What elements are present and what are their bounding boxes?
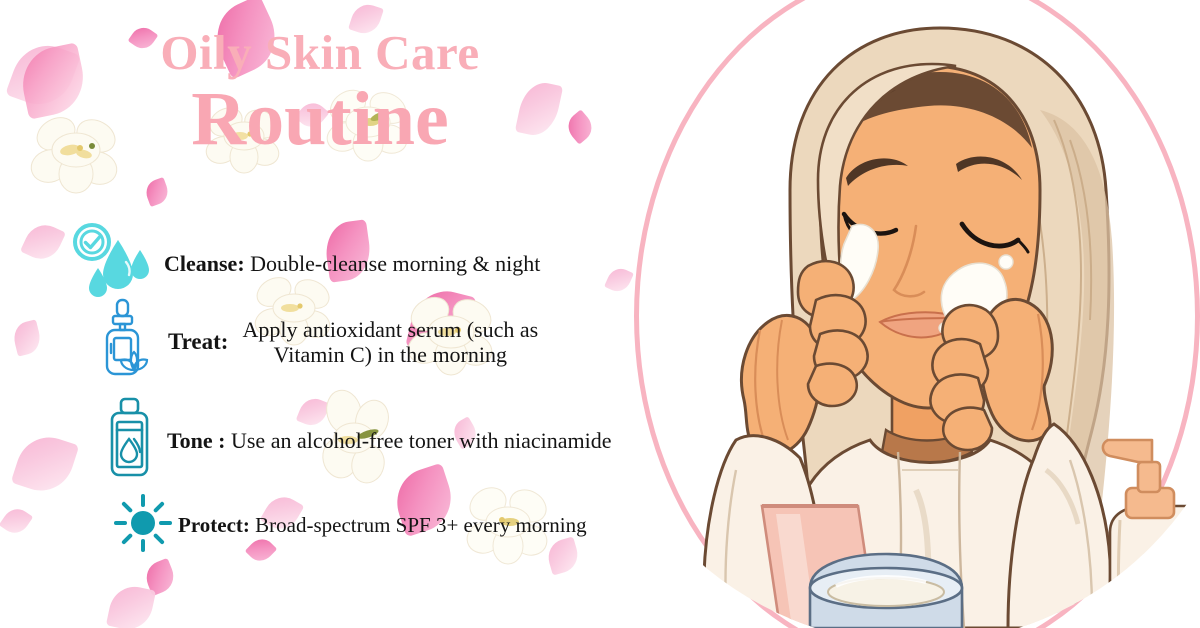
step-treat-label: Treat:	[168, 329, 228, 355]
poster-title: Oily Skin Care Routine	[0, 28, 640, 155]
step-treat: Treat: Apply antioxidant serum (such as …	[96, 298, 538, 387]
step-cleanse-body: Double-cleanse morning & night	[250, 251, 540, 276]
step-tone: Tone : Use an alcohol-free toner with ni…	[101, 396, 612, 485]
step-protect-label: Protect:	[178, 513, 250, 537]
step-treat-body-line2: Vitamin C) in the morning	[274, 342, 507, 367]
pump-bottle	[1103, 440, 1200, 628]
cherry-blossom-petal	[20, 219, 66, 266]
cherry-blossom-petal	[604, 265, 634, 296]
step-protect: Protect: Broad-spectrum SPF 3+ every mor…	[112, 492, 587, 559]
step-cleanse-label: Cleanse:	[164, 251, 245, 276]
title-line-2: Routine	[0, 83, 640, 155]
poster-canvas: Oily Skin Care Routine Cleanse: Double-c…	[0, 0, 1200, 628]
cherry-blossom-petal	[0, 504, 33, 539]
step-tone-label: Tone :	[167, 428, 225, 453]
checkmark-water-drop-icon	[70, 222, 154, 305]
cherry-blossom-petal	[11, 319, 44, 356]
title-line-1: Oily Skin Care	[0, 28, 640, 77]
cream-jar	[810, 554, 962, 628]
step-tone-text: Tone : Use an alcohol-free toner with ni…	[167, 428, 612, 453]
cherry-blossom-petal	[141, 558, 178, 596]
step-cleanse: Cleanse: Double-cleanse morning & night	[70, 222, 540, 305]
step-treat-text: Treat: Apply antioxidant serum (such as …	[168, 318, 538, 367]
illustration-woman-washing-face	[640, 0, 1200, 628]
sun-icon	[112, 492, 174, 559]
step-protect-text: Protect: Broad-spectrum SPF 3+ every mor…	[178, 513, 587, 537]
cherry-blossom-petal	[106, 582, 156, 628]
step-treat-body-line1: Apply antioxidant serum (such as	[242, 317, 538, 342]
step-tone-body: Use an alcohol-free toner with niacinami…	[231, 428, 612, 453]
cherry-blossom-petal	[11, 429, 80, 499]
cherry-blossom-petal	[143, 177, 172, 207]
step-protect-body: Broad-spectrum SPF 3+ every morning	[255, 513, 586, 537]
toner-bottle-icon	[101, 396, 159, 485]
step-cleanse-text: Cleanse: Double-cleanse morning & night	[164, 251, 540, 276]
serum-dropper-bottle-icon	[96, 298, 160, 387]
